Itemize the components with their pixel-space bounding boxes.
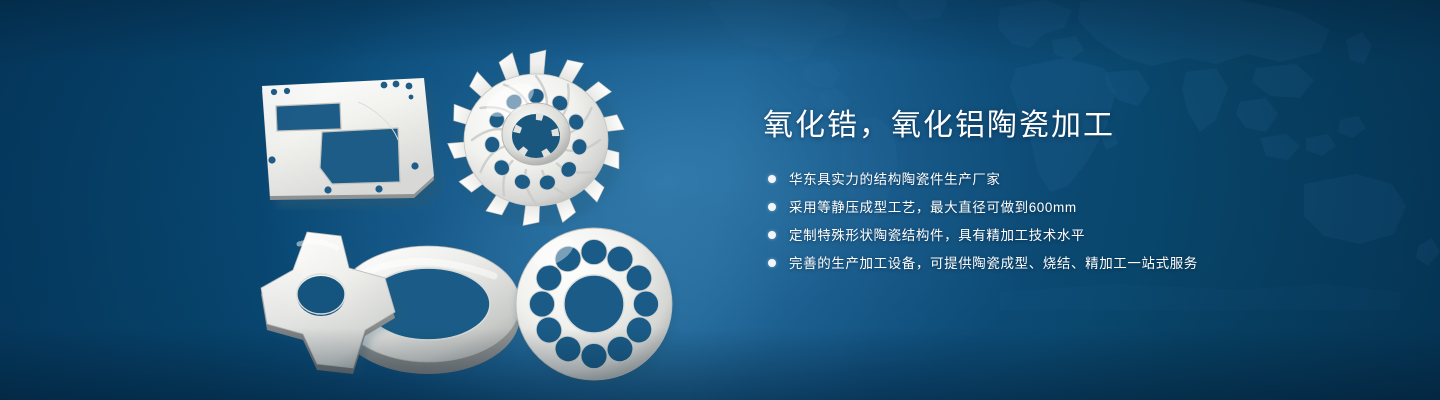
bullet-dot-icon bbox=[768, 259, 776, 267]
feature-text: 完善的生产加工设备，可提供陶瓷成型、烧结、精加工一站式服务 bbox=[789, 254, 1198, 274]
feature-text: 定制特殊形状陶瓷结构件，具有精加工技术水平 bbox=[789, 226, 1085, 246]
feature-list: 华东具实力的结构陶瓷件生产厂家 采用等静压成型工艺，最大直径可做到600mm 定… bbox=[763, 170, 1403, 274]
feature-list-item: 采用等静压成型工艺，最大直径可做到600mm bbox=[763, 198, 1403, 218]
feature-text: 华东具实力的结构陶瓷件生产厂家 bbox=[789, 170, 1001, 190]
feature-list-item: 华东具实力的结构陶瓷件生产厂家 bbox=[763, 170, 1403, 190]
feature-list-item: 完善的生产加工设备，可提供陶瓷成型、烧结、精加工一站式服务 bbox=[763, 254, 1403, 274]
banner-copy: 氧化锆，氧化铝陶瓷加工 华东具实力的结构陶瓷件生产厂家 采用等静压成型工艺，最大… bbox=[763, 108, 1403, 282]
banner-headline: 氧化锆，氧化铝陶瓷加工 bbox=[763, 108, 1403, 144]
hero-banner: 氧化锆，氧化铝陶瓷加工 华东具实力的结构陶瓷件生产厂家 采用等静压成型工艺，最大… bbox=[0, 0, 1440, 400]
feature-text: 采用等静压成型工艺，最大直径可做到600mm bbox=[789, 198, 1077, 218]
bullet-dot-icon bbox=[768, 231, 776, 239]
bullet-dot-icon bbox=[768, 175, 776, 183]
bullet-dot-icon bbox=[768, 203, 776, 211]
feature-list-item: 定制特殊形状陶瓷结构件，具有精加工技术水平 bbox=[763, 226, 1403, 246]
